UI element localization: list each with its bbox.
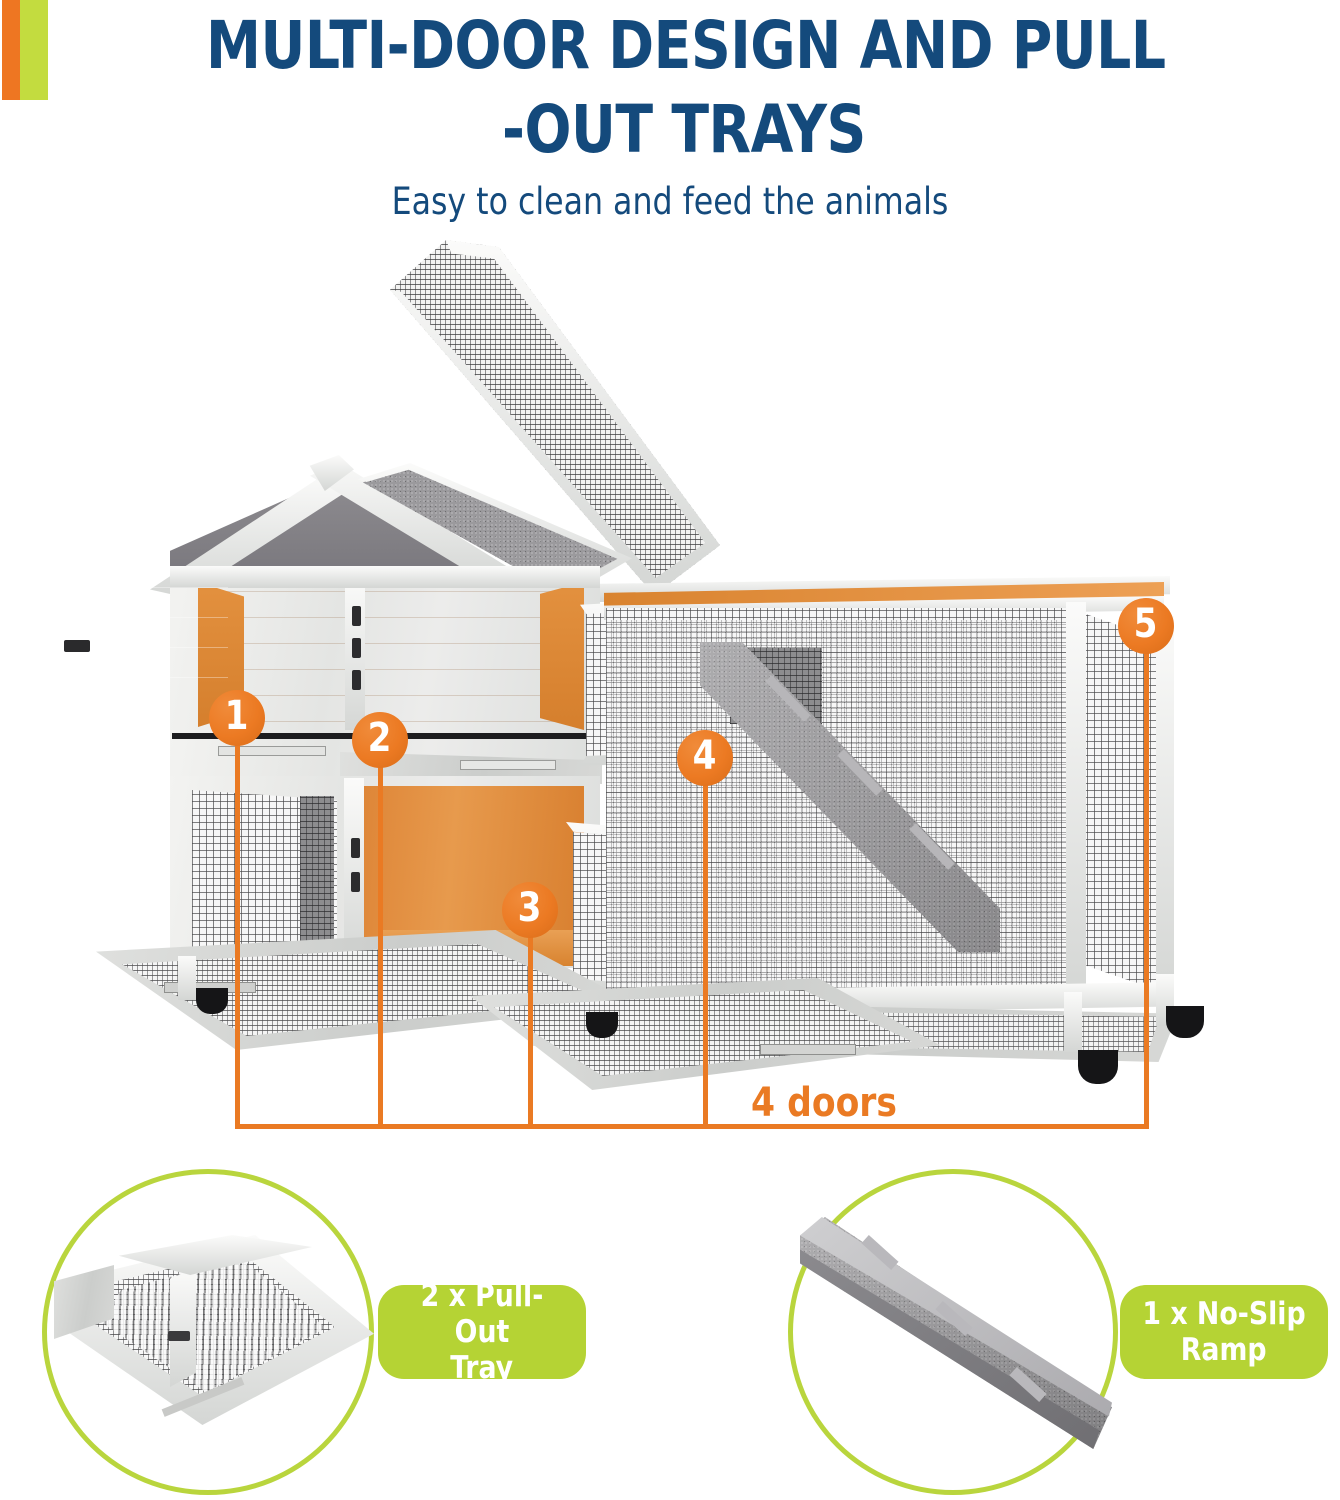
pull-out-tray-illustration bbox=[44, 1235, 374, 1425]
run-right-side-mesh bbox=[1080, 612, 1168, 994]
leader-line-3 bbox=[528, 932, 533, 1128]
inset-label-no-slip-ramp-line1: 1 x No-Slip bbox=[1142, 1296, 1305, 1332]
lower-left-mesh-inner-shadow bbox=[300, 796, 334, 948]
callout-badge-4-number: 4 bbox=[693, 736, 717, 776]
inset-label-pull-out-tray-line2: Tray bbox=[451, 1350, 514, 1386]
upper-door-hinge-bottom bbox=[352, 670, 361, 690]
caster-run-front bbox=[1078, 1050, 1118, 1084]
callout-badge-3-number: 3 bbox=[518, 888, 542, 928]
inset-pull-out-tray: 2 x Pull-Out Tray bbox=[30, 1165, 650, 1495]
page-title-line-1: MULTI-DOOR DESIGN AND PULL bbox=[47, 4, 1293, 88]
caster-front-left bbox=[196, 988, 228, 1014]
run-right-corner-post bbox=[1066, 602, 1086, 1000]
no-slip-ramp-in-run bbox=[700, 642, 1000, 952]
page-title-line-2: -OUT TRAYS bbox=[47, 88, 1293, 172]
no-slip-ramp-illustration bbox=[800, 1217, 1112, 1449]
callout-badge-2[interactable]: 2 bbox=[352, 712, 408, 768]
run-far-right-post bbox=[1156, 616, 1174, 998]
callout-baseline bbox=[235, 1124, 1149, 1129]
tray-divider-latch bbox=[168, 1331, 190, 1341]
upper-door-hinge-top bbox=[352, 606, 361, 626]
inset-label-pull-out-tray-line1: 2 x Pull-Out bbox=[399, 1278, 564, 1350]
lower-door-hinge-bottom bbox=[351, 872, 360, 892]
inset-label-no-slip-ramp-line2: Ramp bbox=[1181, 1332, 1267, 1368]
lower-door-hinge-top bbox=[351, 838, 360, 858]
inset-no-slip-ramp: 1 x No-Slip Ramp bbox=[770, 1165, 1340, 1495]
caster-mid bbox=[586, 1012, 618, 1038]
leg-run-left bbox=[1064, 992, 1082, 1052]
callout-badge-1-number: 1 bbox=[225, 696, 249, 736]
caster-run-rear bbox=[1166, 1006, 1204, 1038]
leader-line-2 bbox=[378, 762, 383, 1128]
leg-front-left bbox=[178, 956, 196, 1000]
page-subtitle: Easy to clean and feed the animals bbox=[34, 180, 1307, 223]
tray-handle-right[interactable] bbox=[460, 760, 556, 770]
upper-top-rail bbox=[170, 566, 600, 588]
left-door-latch[interactable] bbox=[64, 640, 90, 652]
infographic-page: MULTI-DOOR DESIGN AND PULL -OUT TRAYS Ea… bbox=[0, 0, 1340, 1500]
inset-label-pull-out-tray: 2 x Pull-Out Tray bbox=[378, 1285, 586, 1379]
doors-count-label: 4 doors bbox=[751, 1080, 897, 1126]
pull-out-tray-handle-right[interactable] bbox=[760, 1044, 856, 1055]
upper-interior-right-wall bbox=[540, 582, 584, 730]
leader-line-5 bbox=[1144, 648, 1149, 1128]
leader-line-4 bbox=[703, 780, 708, 1128]
callout-badge-1[interactable]: 1 bbox=[209, 690, 265, 746]
product-illustration bbox=[0, 230, 1340, 1130]
leader-line-1 bbox=[235, 740, 240, 1128]
callout-badge-2-number: 2 bbox=[368, 718, 392, 758]
left-side-door-open[interactable] bbox=[80, 580, 228, 710]
callout-badge-4[interactable]: 4 bbox=[677, 730, 733, 786]
callout-badge-3[interactable]: 3 bbox=[502, 882, 558, 938]
inset-label-no-slip-ramp: 1 x No-Slip Ramp bbox=[1120, 1285, 1328, 1379]
callout-badge-5[interactable]: 5 bbox=[1118, 598, 1174, 654]
callout-badge-5-number: 5 bbox=[1134, 604, 1158, 644]
header-block: MULTI-DOOR DESIGN AND PULL -OUT TRAYS Ea… bbox=[0, 4, 1340, 223]
upper-door-hinge-mid bbox=[352, 638, 361, 658]
